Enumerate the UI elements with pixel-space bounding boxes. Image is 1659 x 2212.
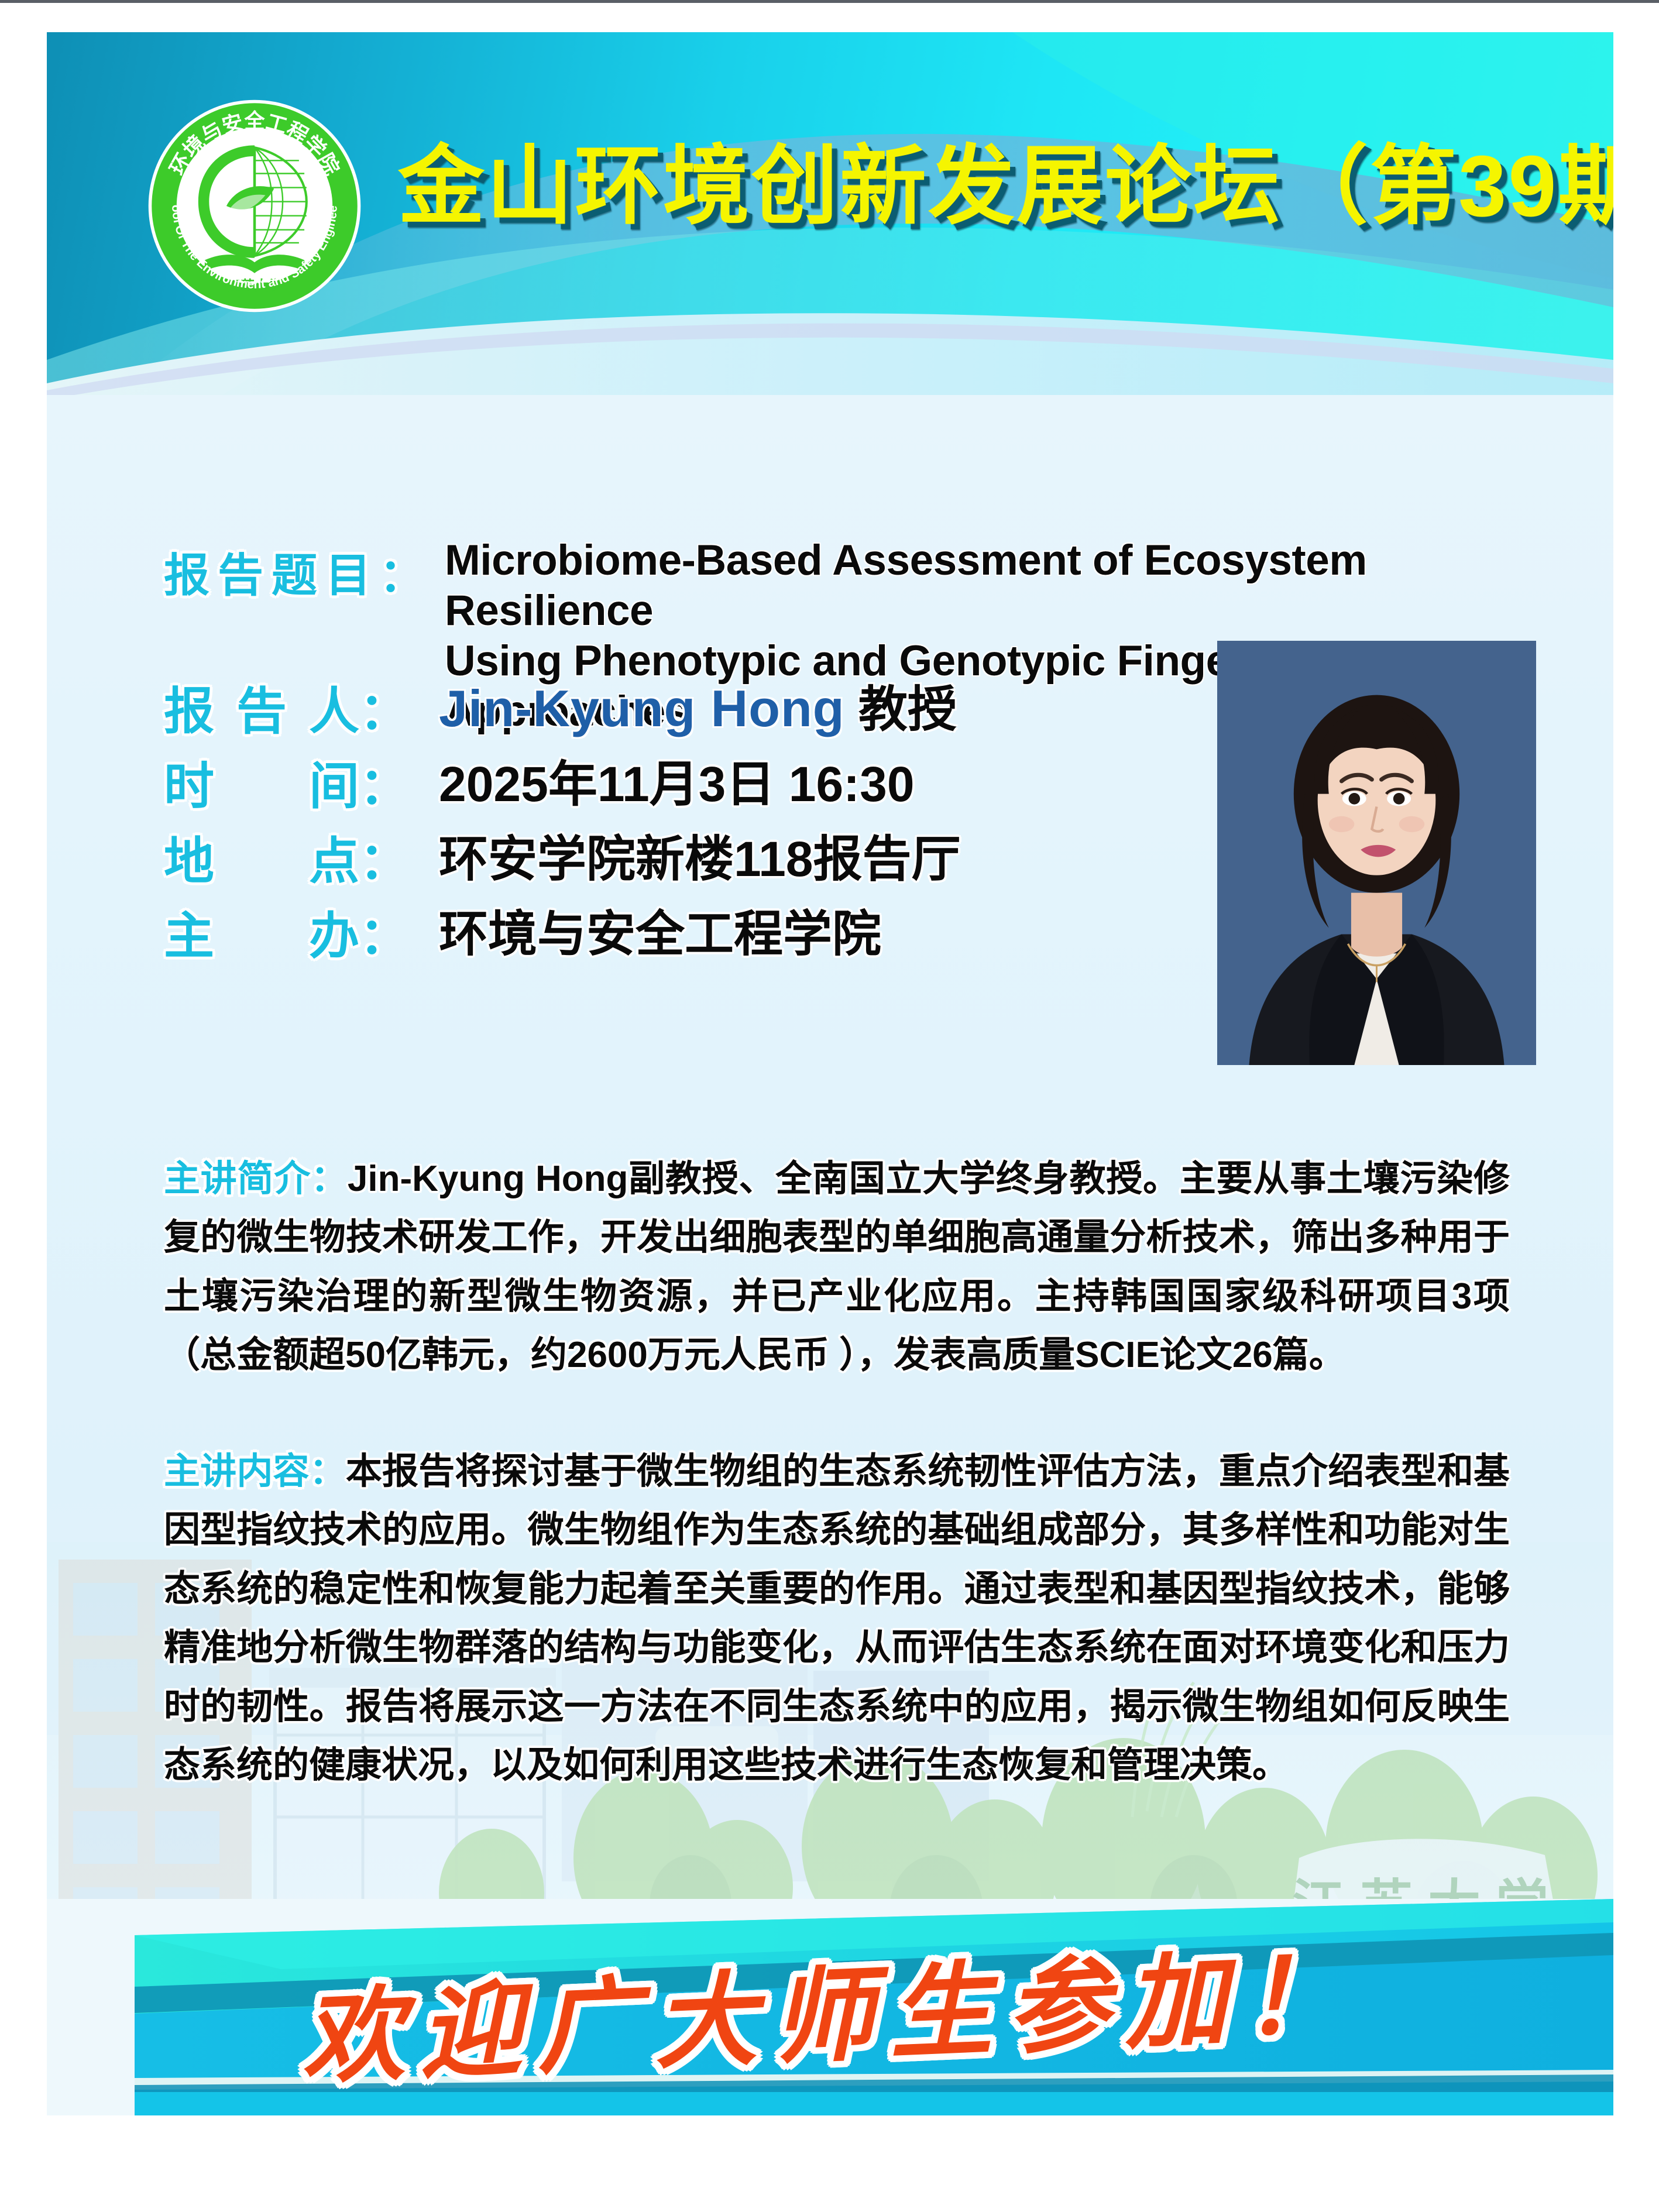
- speaker-label-char-2: 告: [236, 670, 287, 743]
- portrait-illustration: [1217, 641, 1536, 1065]
- host-label: 主 办：: [164, 895, 410, 968]
- host-label-char-1: 主: [164, 895, 214, 968]
- poster-canvas: 江苏大学 环境与安全工程学院 School Of The Environment…: [47, 32, 1613, 2115]
- poster-header: 江苏大学 环境与安全工程学院 School Of The Environment…: [47, 32, 1613, 395]
- forum-title: 金山环境创新发展论坛（第39期）: [398, 143, 1586, 230]
- speaker-portrait-photo: [1217, 641, 1536, 1065]
- host-value: 环境与安全工程学院: [439, 895, 881, 966]
- talk-meta-block: 报 告 人： Jin-Kyung Hong 教授 时 间： 2025年11月3日…: [164, 670, 1276, 970]
- top-rule: [0, 0, 1659, 3]
- bio-tag: 主讲简介：: [164, 1159, 348, 1199]
- speaker-label-char-1: 报: [164, 670, 214, 743]
- speaker-label: 报 告 人：: [164, 670, 410, 743]
- content-tag: 主讲内容：: [164, 1451, 346, 1492]
- place-label-char-1: 地: [164, 820, 214, 893]
- time-label-char-2: 间：: [309, 745, 410, 818]
- speaker-name: Jin-Kyung Hong: [439, 679, 844, 737]
- talk-content-paragraph: 主讲内容：本报告将探讨基于微生物组的生态系统韧性评估方法，重点介绍表型和基因型指…: [164, 1442, 1510, 1795]
- meta-row-host: 主 办： 环境与安全工程学院: [164, 895, 1276, 970]
- emblem-svg: 江苏大学 环境与安全工程学院 School Of The Environment…: [146, 98, 363, 314]
- speaker-value: Jin-Kyung Hong 教授: [439, 670, 957, 741]
- bio-text: Jin-Kyung Hong副教授、全南国立大学终身教授。主要从事土壤污染修复的…: [164, 1159, 1510, 1375]
- speaker-label-char-3: 人：: [309, 670, 410, 743]
- talk-title-line-1: Microbiome-Based Assessment of Ecosystem…: [445, 535, 1557, 636]
- poster-footer-banner: 欢迎广大师生参加！: [47, 1899, 1613, 2115]
- speaker-bio-paragraph: 主讲简介：Jin-Kyung Hong副教授、全南国立大学终身教授。主要从事土壤…: [164, 1150, 1510, 1385]
- time-label-char-1: 时: [164, 745, 214, 818]
- content-text: 本报告将探讨基于微生物组的生态系统韧性评估方法，重点介绍表型和基因型指纹技术的应…: [164, 1451, 1510, 1785]
- host-label-char-2: 办：: [309, 895, 410, 968]
- school-emblem-logo: 江苏大学 环境与安全工程学院 School Of The Environment…: [146, 98, 363, 314]
- meta-row-time: 时 间： 2025年11月3日 16:30: [164, 745, 1276, 820]
- talk-title-label: 报告题目：: [164, 539, 433, 604]
- time-label: 时 间：: [164, 745, 410, 818]
- place-label-char-2: 点：: [309, 820, 410, 893]
- welcome-message: 欢迎广大师生参加！: [47, 1899, 1613, 2115]
- place-value: 环安学院新楼118报告厅: [439, 820, 961, 891]
- speaker-rank: 教授: [858, 682, 957, 737]
- time-value: 2025年11月3日 16:30: [439, 745, 915, 816]
- meta-row-place: 地 点： 环安学院新楼118报告厅: [164, 820, 1276, 895]
- place-label: 地 点：: [164, 820, 410, 893]
- meta-row-speaker: 报 告 人： Jin-Kyung Hong 教授: [164, 670, 1276, 745]
